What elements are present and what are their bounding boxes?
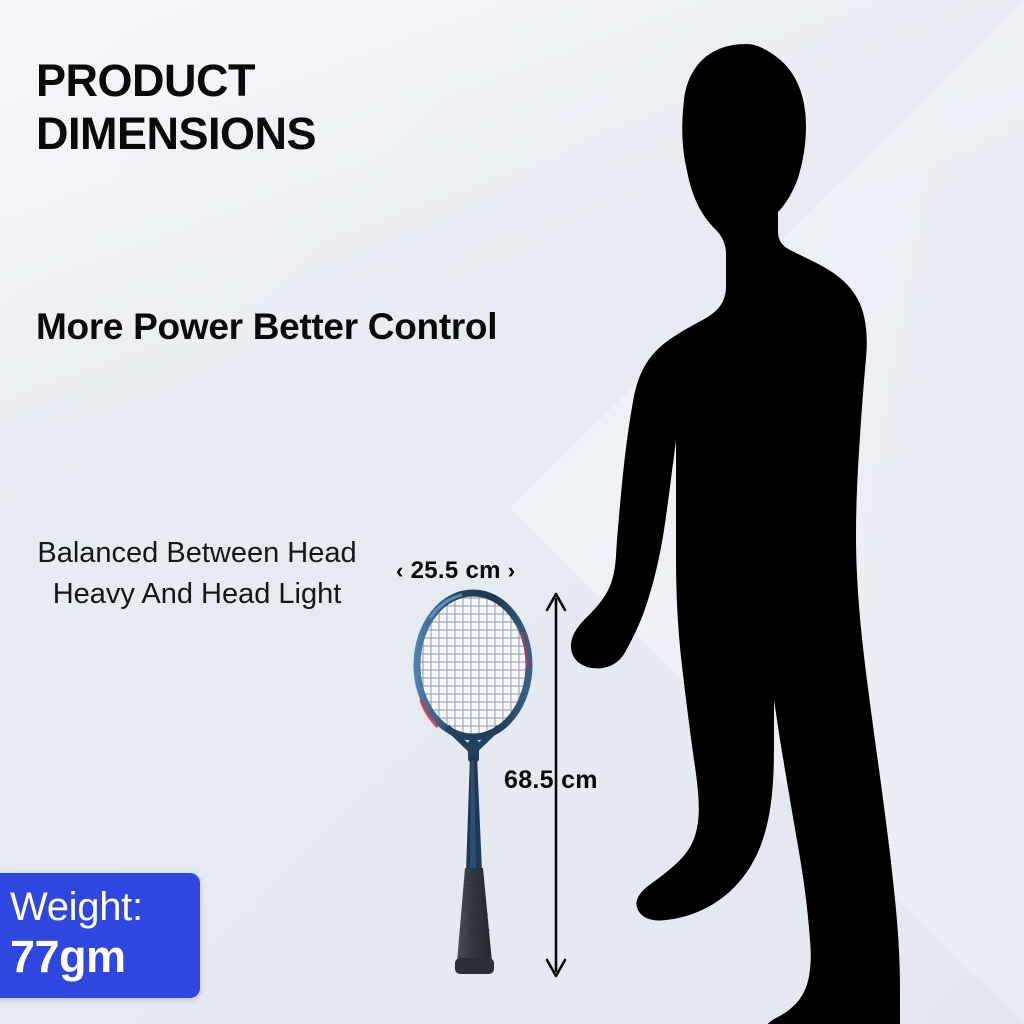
body-text: Balanced Between Head Heavy And Head Lig… <box>12 533 382 615</box>
page-title: PRODUCT DIMENSIONS <box>36 55 466 160</box>
weight-value: 77gm <box>10 932 184 982</box>
subtitle: More Power Better Control <box>36 305 536 349</box>
width-dimension-value: 25.5 cm <box>411 557 501 584</box>
height-dimension-label: 68.5 cm <box>504 766 598 795</box>
racket-butt-cap <box>455 958 494 974</box>
chevron-left-icon: ‹ <box>396 558 404 583</box>
width-dimension-label: ‹ 25.5 cm › <box>396 557 515 585</box>
racket-grip <box>457 868 492 962</box>
chevron-right-icon: › <box>508 558 516 583</box>
infographic-canvas: PRODUCT DIMENSIONS More Power Better Con… <box>0 0 1024 1024</box>
weight-label: Weight: <box>10 885 184 930</box>
weight-badge: Weight: 77gm <box>0 873 200 998</box>
